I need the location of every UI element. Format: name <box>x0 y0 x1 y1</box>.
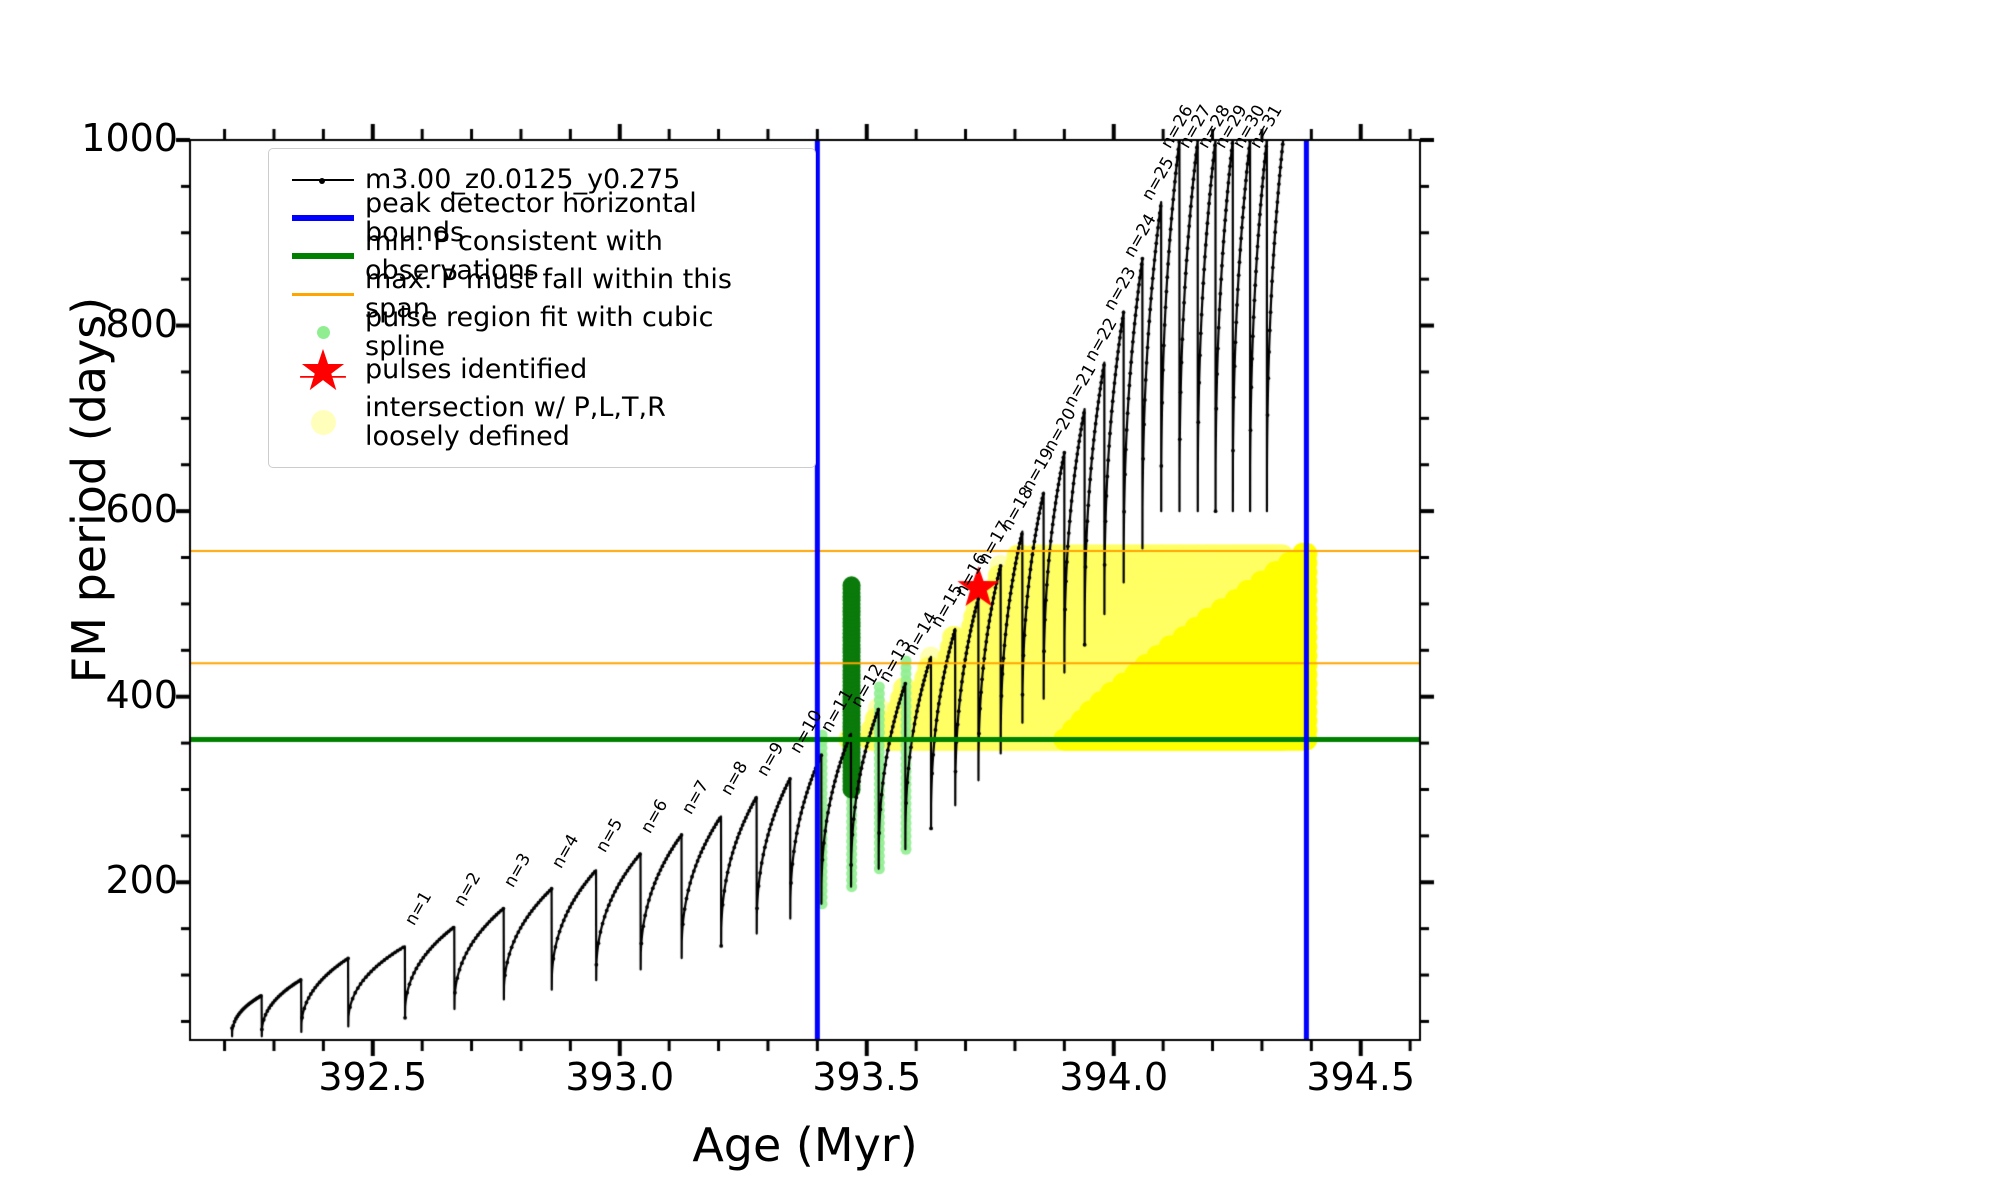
figure-root: FM period (days) Age (Myr) 2004006008001… <box>0 0 2000 1200</box>
legend[interactable]: m3.00_z0.0125_y0.275peak detector horizo… <box>268 148 816 468</box>
legend-line-icon <box>292 215 354 221</box>
x-tick-label-text: 394.0 <box>1024 1055 1204 1099</box>
x-axis-title: Age (Myr) <box>190 1118 1420 1172</box>
y-tick-label-text: 800 <box>30 302 178 346</box>
legend-dot-icon <box>311 410 336 435</box>
legend-key-line-marker <box>281 161 365 199</box>
x-tick-label-text: 393.0 <box>530 1055 710 1099</box>
y-tick-label-text: 1000 <box>30 116 178 160</box>
legend-star-icon <box>295 348 351 392</box>
legend-dot-icon <box>317 326 330 339</box>
legend-item[interactable]: intersection w/ P,L,T,R loosely defined <box>281 389 801 455</box>
legend-line-icon <box>292 293 354 296</box>
x-tick-label-text: 392.5 <box>283 1055 463 1099</box>
legend-key-dot <box>281 313 365 351</box>
legend-item-label: pulse region fit with cubic spline <box>365 303 801 361</box>
legend-item-label: intersection w/ P,L,T,R loosely defined <box>365 393 666 451</box>
legend-key-line <box>281 275 365 313</box>
legend-key-dot <box>281 403 365 441</box>
x-tick-label-text: 394.5 <box>1271 1055 1451 1099</box>
legend-key-line <box>281 199 365 237</box>
x-tick-label-text: 393.5 <box>777 1055 957 1099</box>
legend-key-star <box>281 351 365 389</box>
legend-item[interactable]: pulse region fit with cubic spline <box>281 313 801 351</box>
y-tick-label-text: 200 <box>30 858 178 902</box>
legend-key-line <box>281 237 365 275</box>
legend-line-marker-icon <box>292 179 354 181</box>
legend-item-label: pulses identified <box>365 355 587 384</box>
y-tick-label-text: 400 <box>30 673 178 717</box>
y-tick-label-text: 600 <box>30 487 178 531</box>
legend-line-icon <box>292 253 354 259</box>
